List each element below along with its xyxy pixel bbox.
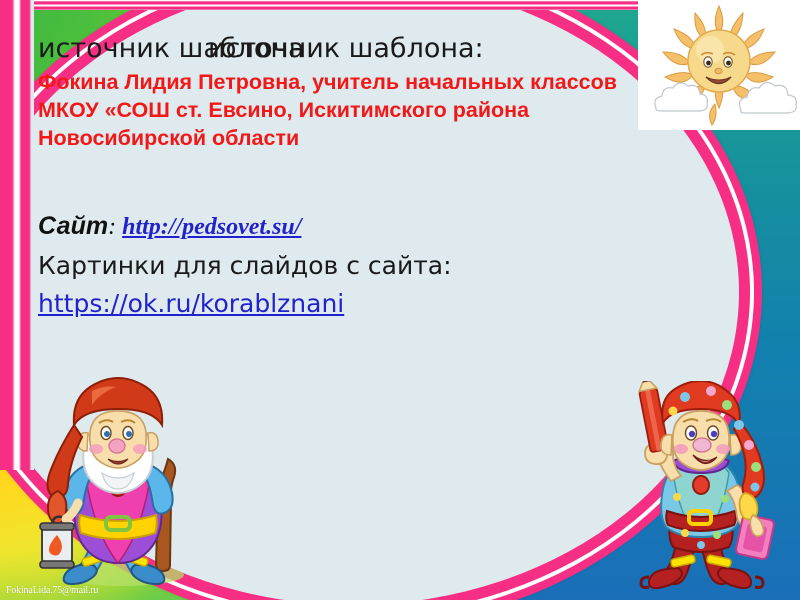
frame-rail-top: [0, 0, 700, 10]
sun-icon: [638, 0, 800, 130]
pictures-caption: Картинки для слайдов с сайта:: [38, 250, 452, 282]
heading-text-front: источник шаблона:: [208, 32, 484, 66]
ok-ru-link[interactable]: https://ok.ru/korablznani: [38, 288, 344, 320]
site-label: Сайт: [38, 212, 108, 240]
heading-overlap-group: источник шаблона источник шаблона:: [38, 32, 678, 72]
slide-content: источник шаблона источник шаблона: Фокин…: [34, 20, 682, 330]
site-separator: :: [108, 214, 122, 240]
author-block: Фокина Лидия Петровна, учитель начальных…: [38, 68, 668, 152]
gnome-left-illustration: [22, 377, 212, 592]
gnome-right-illustration: [615, 381, 790, 596]
slide-canvas: источник шаблона источник шаблона: Фокин…: [0, 0, 800, 600]
author-school-line: МКОУ «СОШ ст. Евсино, Искитимского район…: [38, 96, 668, 152]
gnome-with-lantern-icon: [22, 377, 212, 592]
pedsovet-link[interactable]: http://pedsovet.su/: [122, 214, 301, 240]
gnome-with-pencil-icon: [615, 381, 790, 596]
watermark-email: FokinaLida.75@mail.ru: [6, 585, 98, 596]
author-name-line: Фокина Лидия Петровна, учитель начальных…: [38, 68, 668, 96]
site-line: Сайт: http://pedsovet.su/: [38, 210, 301, 243]
sun-image-box: [638, 0, 800, 130]
